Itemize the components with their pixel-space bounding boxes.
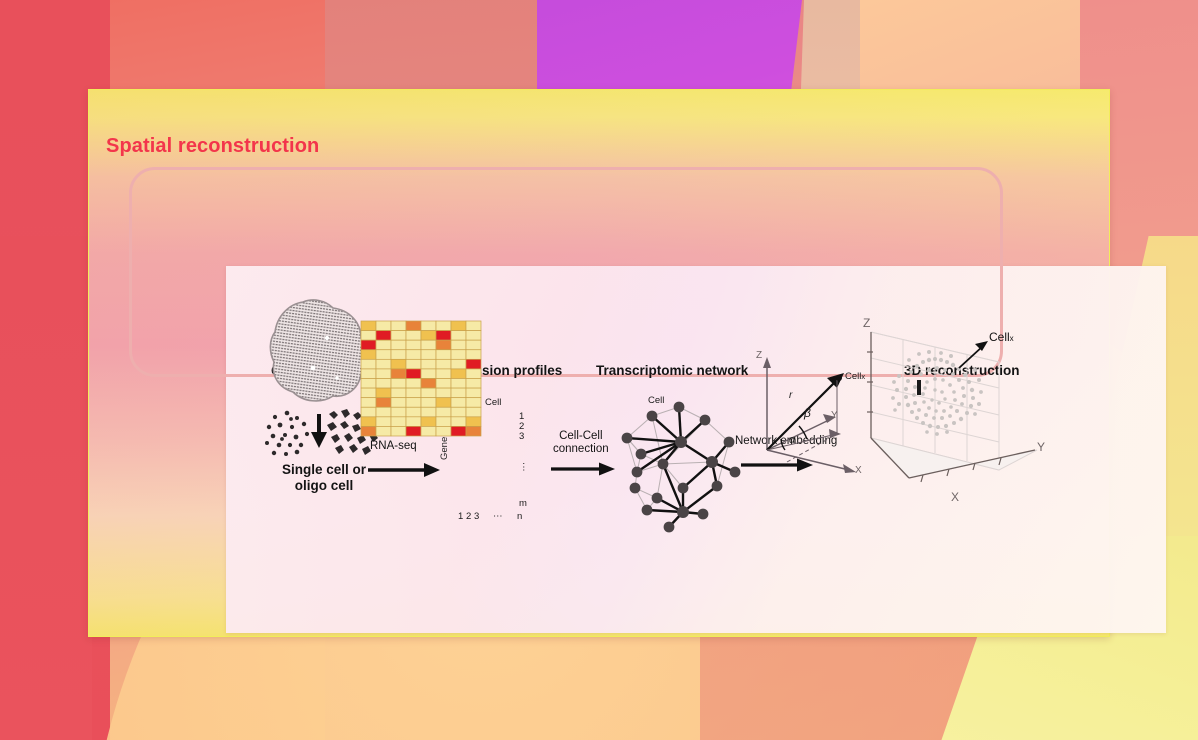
- outer-gradient-panel: Spatial reconstruction Cells in tissue G…: [88, 89, 1110, 637]
- heatmap-cell: [436, 331, 451, 341]
- matrix-row-ticks: 1 2 3: [519, 412, 524, 442]
- heatmap-cell: [436, 417, 451, 427]
- heatmap-cell: [361, 340, 376, 350]
- heatmap-cell: [391, 426, 406, 436]
- heatmap-cell: [361, 359, 376, 369]
- heatmap-cell: [466, 398, 481, 408]
- heatmap-cell: [436, 398, 451, 408]
- matrix-row-tick-m: m: [519, 498, 527, 509]
- heatmap-cell: [376, 340, 391, 350]
- heatmap-cell: [466, 417, 481, 427]
- matrix-col-tick-2: 2: [466, 511, 471, 522]
- heatmap-cell: [421, 417, 436, 427]
- plot-axis-z-label: Z: [863, 316, 870, 330]
- heatmap-cell: [421, 340, 436, 350]
- heatmap-cell: [361, 426, 376, 436]
- matrix-col-tick-1: 1: [458, 511, 463, 522]
- gene-expression-heatmap: [361, 321, 481, 436]
- coord-alpha-label: α: [789, 434, 795, 446]
- heatmap-cell: [451, 340, 466, 350]
- matrix-col-axis-label: Cell: [485, 397, 501, 408]
- heatmap-cell: [406, 340, 421, 350]
- heatmap-cell: [466, 407, 481, 417]
- label-cell-cell-connection: Cell-Cell connection: [553, 430, 609, 456]
- heatmap-cell: [421, 331, 436, 341]
- heatmap-cell: [466, 426, 481, 436]
- heatmap-cell: [406, 398, 421, 408]
- heatmap-cell: [376, 350, 391, 360]
- heatmap-cell: [466, 379, 481, 389]
- heatmap-cell: [391, 350, 406, 360]
- heatmap-cell: [451, 407, 466, 417]
- heatmap-cell: [451, 331, 466, 341]
- cc-line-2: connection: [553, 443, 609, 456]
- matrix-row-axis-label: Gene: [439, 437, 450, 460]
- coord-r-label: r: [789, 390, 792, 401]
- heatmap-cell: [376, 359, 391, 369]
- heatmap-cell: [406, 388, 421, 398]
- heatmap-cell: [361, 379, 376, 389]
- rna-seq-arrow-icon: [366, 461, 452, 481]
- plot-cell-text: Cell: [989, 330, 1010, 344]
- page-title: Spatial reconstruction: [106, 135, 319, 158]
- heatmap-cell: [391, 388, 406, 398]
- plot-axis-x-label: X: [951, 490, 959, 504]
- heatmap-cell: [361, 407, 376, 417]
- heatmap-cell: [436, 340, 451, 350]
- heatmap-cell: [376, 417, 391, 427]
- heatmap-cell: [361, 388, 376, 398]
- heatmap-cell: [361, 417, 376, 427]
- heatmap-cell: [436, 350, 451, 360]
- transcriptomic-network-graph: [617, 402, 747, 532]
- heatmap-cell: [406, 417, 421, 427]
- heatmap-cell: [406, 426, 421, 436]
- coord-axis-z-label: Z: [756, 350, 762, 361]
- heatmap-cell: [376, 331, 391, 341]
- heatmap-cell: [361, 331, 376, 341]
- heatmap-cell: [436, 379, 451, 389]
- heatmap-cell: [421, 426, 436, 436]
- heatmap-cell: [421, 321, 436, 331]
- heatmap-cell: [376, 407, 391, 417]
- heatmap-cell: [451, 369, 466, 379]
- cell-cell-arrow-icon: [549, 460, 623, 480]
- heatmap-cell: [391, 340, 406, 350]
- heatmap-cell: [406, 407, 421, 417]
- heatmap-cell: [361, 350, 376, 360]
- heatmap-cell: [436, 321, 451, 331]
- heatmap-cell: [466, 331, 481, 341]
- label-rna-seq: RNA-seq: [370, 440, 417, 453]
- heatmap-cell: [451, 417, 466, 427]
- background-strip-red: [0, 236, 92, 740]
- heatmap-cell: [421, 369, 436, 379]
- heatmap-cell: [421, 407, 436, 417]
- heatmap-cell: [361, 398, 376, 408]
- heatmap-cell: [466, 359, 481, 369]
- heatmap-cell: [376, 379, 391, 389]
- plot-gridlines: [871, 332, 1037, 478]
- heatmap-cell: [376, 369, 391, 379]
- coord-axis-y-label: Y: [831, 410, 838, 421]
- heatmap-cell: [391, 331, 406, 341]
- heatmap-cell: [451, 359, 466, 369]
- heatmap-cell: [376, 426, 391, 436]
- matrix-col-tick-ellipsis: ⋯: [493, 511, 503, 522]
- heatmap-cell: [466, 350, 481, 360]
- heatmap-cell: [466, 369, 481, 379]
- plot-axis-y-label: Y: [1037, 440, 1045, 454]
- heatmap-cell: [451, 398, 466, 408]
- heatmap-cell: [406, 350, 421, 360]
- heatmap-cell: [421, 359, 436, 369]
- matrix-row-tick-ellipsis: ⋮: [519, 462, 529, 473]
- heatmap-cell: [451, 321, 466, 331]
- heatmap-cell: [391, 369, 406, 379]
- matrix-col-tick-n: n: [517, 511, 522, 522]
- heatmap-cell: [391, 407, 406, 417]
- heatmap-cell: [436, 407, 451, 417]
- heatmap-cell: [391, 398, 406, 408]
- plot-cell-sub: x: [1010, 334, 1014, 343]
- heatmap-cell: [406, 369, 421, 379]
- heatmap-cell: [421, 350, 436, 360]
- heatmap-cell: [391, 321, 406, 331]
- heatmap-cell: [436, 359, 451, 369]
- coord-beta-label: β: [804, 406, 811, 420]
- heatmap-cell: [451, 388, 466, 398]
- heatmap-cell: [391, 379, 406, 389]
- heatmap-cell: [436, 369, 451, 379]
- heatmap-cell: [466, 340, 481, 350]
- heatmap-cell: [466, 388, 481, 398]
- heatmap-cell: [406, 359, 421, 369]
- heatmap-cell: [451, 379, 466, 389]
- heatmap-cell: [466, 321, 481, 331]
- heatmap-cell: [361, 321, 376, 331]
- heatmap-cell: [406, 379, 421, 389]
- cell-x-annotation-arrow: [959, 341, 988, 368]
- heatmap-cell: [391, 417, 406, 427]
- cc-line-1: Cell-Cell: [553, 430, 609, 443]
- heading-transcriptomic-network: Transcriptomic network: [596, 363, 748, 378]
- heatmap-cell: [361, 369, 376, 379]
- heatmap-cell: [376, 398, 391, 408]
- heatmap-cell: [421, 398, 436, 408]
- figure-canvas: Spatial reconstruction Cells in tissue G…: [0, 0, 1198, 740]
- heatmap-cell: [406, 321, 421, 331]
- heatmap-cell: [451, 350, 466, 360]
- heatmap-cell: [376, 321, 391, 331]
- heatmap-cell: [421, 388, 436, 398]
- heatmap-cell: [406, 331, 421, 341]
- heatmap-cell: [436, 388, 451, 398]
- matrix-col-tick-3: 3: [474, 511, 479, 522]
- heatmap-cell: [391, 359, 406, 369]
- heatmap-cell: [451, 426, 466, 436]
- heatmap-cell: [436, 426, 451, 436]
- heatmap-cell: [421, 379, 436, 389]
- plot-cell-x-label: Cellx: [989, 330, 1014, 344]
- heatmap-cell: [376, 388, 391, 398]
